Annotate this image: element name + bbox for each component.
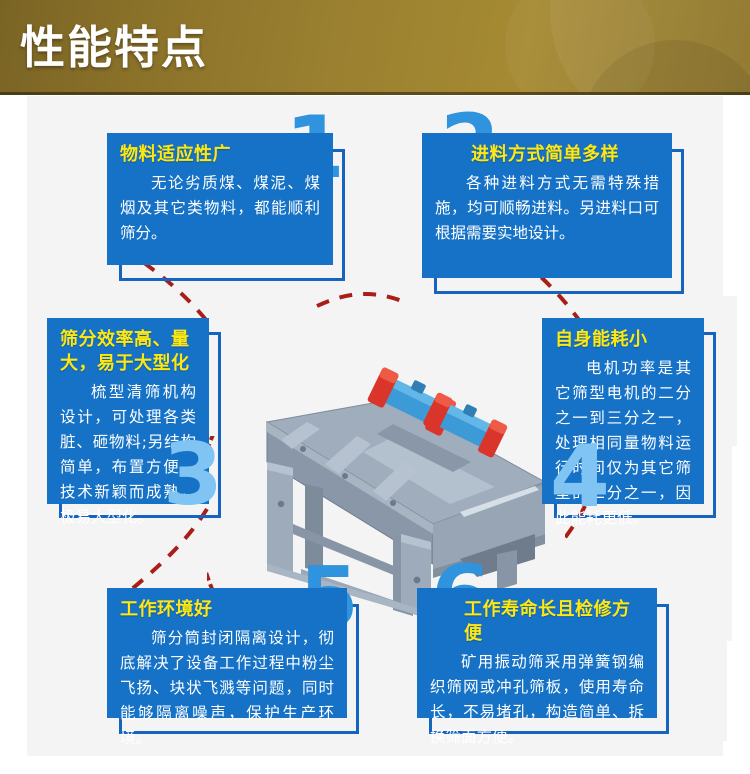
card-2-description: 各种进料方式无需特殊措施，均可顺畅进料。另进料口可根据需要实地设计。 <box>435 171 659 246</box>
card-1-title: 物料适应性广 <box>120 143 320 167</box>
banner-arc-decoration-3 <box>505 0 655 95</box>
card-6-description: 矿用振动筛采用弹簧钢编织筛网或冲孔筛板，使用寿命长，不易堵孔，构造简单、拆换筛面… <box>430 650 644 750</box>
card-5-description: 筛分筒封闭隔离设计，彻底解决了设备工作过程中粉尘飞扬、块状飞溅等问题，同时能够隔… <box>120 626 334 751</box>
content-panel: 1 物料适应性广 无论劣质煤、煤泥、煤烟及其它类物料，都能顺利筛分。 2 进料方… <box>27 96 723 756</box>
header-banner: 性能特点 <box>0 0 750 95</box>
card-2-body: 进料方式简单多样 各种进料方式无需特殊措施，均可顺畅进料。另进料口可根据需要实地… <box>422 133 672 278</box>
card-1-body: 物料适应性广 无论劣质煤、煤泥、煤烟及其它类物料，都能顺利筛分。 <box>107 133 333 265</box>
card-2-title: 进料方式简单多样 <box>435 143 659 167</box>
vibrating-screen-machine-image <box>245 364 565 626</box>
card-4-number: 4 <box>550 434 610 520</box>
card-5-title: 工作环境好 <box>120 598 334 622</box>
card-5-body: 工作环境好 筛分筒封闭隔离设计，彻底解决了设备工作过程中粉尘飞扬、块状飞溅等问题… <box>107 588 347 718</box>
performance-features-infographic: 性能特点 <box>0 0 750 774</box>
card-6-body: 工作寿命长且检修方便 矿用振动筛采用弹簧钢编织筛网或冲孔筛板，使用寿命长，不易堵… <box>417 588 657 718</box>
card-3-number: 3 <box>163 432 223 518</box>
card-3-title: 筛分效率高、量大，易于大型化 <box>60 328 196 376</box>
page-title: 性能特点 <box>20 20 208 76</box>
card-4-title: 自身能耗小 <box>555 328 691 352</box>
card-6-title: 工作寿命长且检修方便 <box>430 598 644 646</box>
banner-underline <box>0 92 750 95</box>
card-1-description: 无论劣质煤、煤泥、煤烟及其它类物料，都能顺利筛分。 <box>120 171 320 246</box>
